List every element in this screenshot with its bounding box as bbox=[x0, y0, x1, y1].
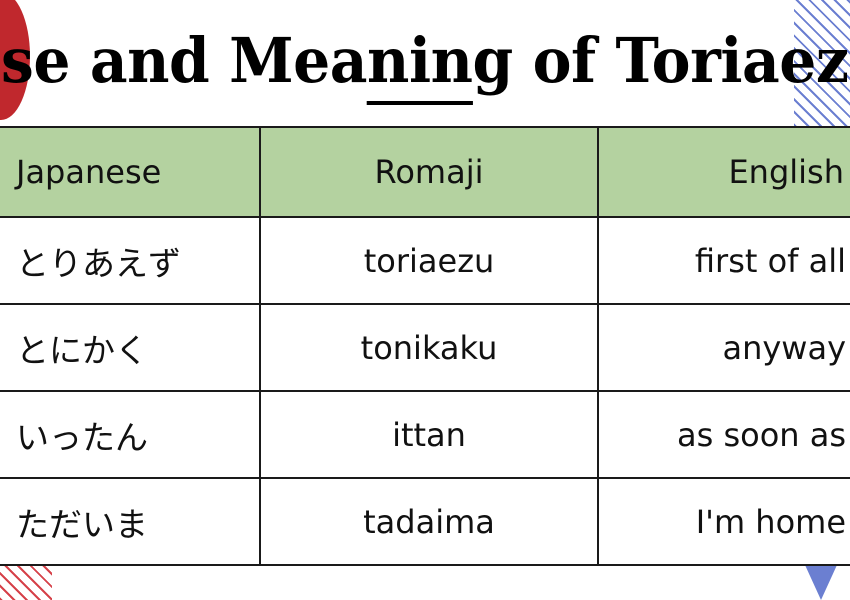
cell-japanese: とりあえず bbox=[0, 217, 260, 304]
table-row: とにかく tonikaku anyway bbox=[0, 304, 850, 391]
page-title: se and Meaning of Toriaez bbox=[0, 0, 850, 122]
slide-canvas: se and Meaning of Toriaez Japanese Romaj… bbox=[0, 0, 850, 600]
cell-english: as soon as bbox=[598, 391, 850, 478]
vocabulary-table: Japanese Romaji English とりあえず toriaezu f… bbox=[0, 126, 850, 566]
cell-romaji: tadaima bbox=[260, 478, 598, 565]
cell-english: I'm home bbox=[598, 478, 850, 565]
column-header-english: English bbox=[598, 127, 850, 217]
cell-romaji: ittan bbox=[260, 391, 598, 478]
cell-english: anyway bbox=[598, 304, 850, 391]
cell-english: first of all bbox=[598, 217, 850, 304]
page-title-underlined: nin bbox=[367, 24, 472, 105]
table-row: ただいま tadaima I'm home bbox=[0, 478, 850, 565]
column-header-romaji: Romaji bbox=[260, 127, 598, 217]
page-title-tail: g of Toriaez bbox=[473, 24, 849, 97]
table-row: とりあえず toriaezu first of all bbox=[0, 217, 850, 304]
cell-japanese: いったん bbox=[0, 391, 260, 478]
cell-romaji: toriaezu bbox=[260, 217, 598, 304]
cell-romaji: tonikaku bbox=[260, 304, 598, 391]
page-title-text: se and Meaning of Toriaez bbox=[1, 30, 848, 92]
cell-japanese: ただいま bbox=[0, 478, 260, 565]
table-header-row: Japanese Romaji English bbox=[0, 127, 850, 217]
table-row: いったん ittan as soon as bbox=[0, 391, 850, 478]
column-header-japanese: Japanese bbox=[0, 127, 260, 217]
page-title-lead: se and Mea bbox=[1, 24, 367, 97]
cell-japanese: とにかく bbox=[0, 304, 260, 391]
